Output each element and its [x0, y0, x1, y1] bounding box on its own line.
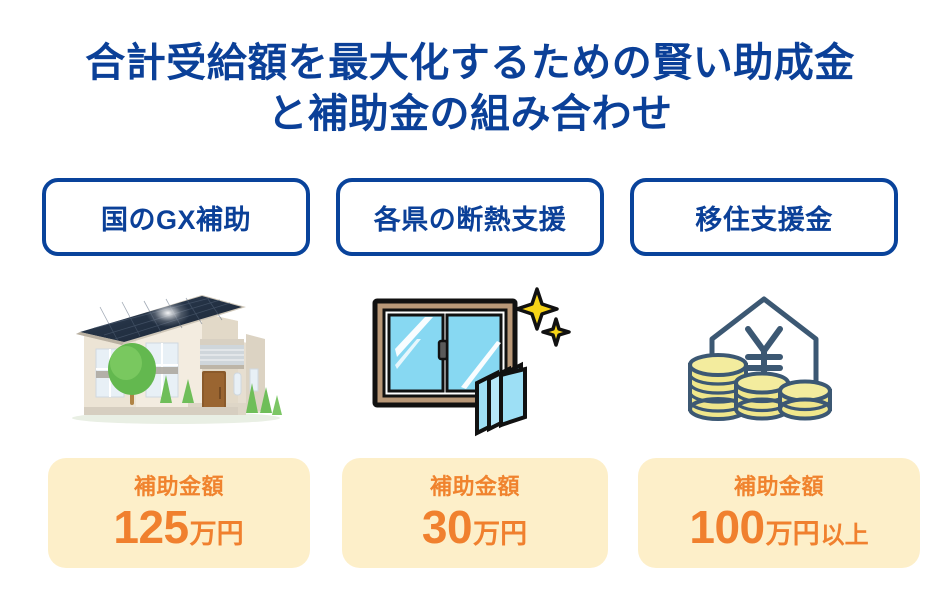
badge-label: 各県の断熱支援	[374, 198, 567, 237]
amount-card-label: 補助金額	[134, 476, 224, 498]
amount-suffix: 以上	[821, 524, 869, 548]
amount-card-row: 補助金額 125 万円 補助金額 30 万円 補助金額 100 万円 以上	[0, 458, 940, 570]
insulated-window-icon	[365, 277, 575, 437]
illustration-cell-3	[630, 272, 898, 442]
badge-national-gx[interactable]: 国のGX補助	[42, 178, 310, 256]
coin-stack-right	[780, 382, 830, 419]
amount-unit: 万円	[473, 521, 527, 548]
amount-unit: 万円	[190, 521, 244, 548]
amount-card-label: 補助金額	[734, 476, 824, 498]
illustration-cell-2	[336, 272, 604, 442]
page-title-line-2: と補助金の組み合わせ	[0, 89, 940, 140]
amount-card-value: 30 万円	[422, 504, 528, 550]
solar-house-icon	[60, 277, 292, 437]
amount-number: 100	[689, 504, 764, 550]
page-title-line-1: 合計受給額を最大化するための賢い助成金	[0, 38, 940, 89]
badge-label: 移住支援金	[695, 198, 833, 237]
amount-card-national-gx: 補助金額 125 万円	[48, 458, 310, 568]
amount-number: 125	[113, 504, 188, 550]
sparkle-small-icon	[543, 319, 569, 345]
amount-card-value: 100 万円 以上	[689, 504, 868, 550]
badge-label: 国のGX補助	[101, 198, 251, 237]
amount-card-prefectural-insulation: 補助金額 30 万円	[342, 458, 608, 568]
amount-card-relocation-support: 補助金額 100 万円 以上	[638, 458, 920, 568]
amount-card-value: 125 万円	[113, 504, 244, 550]
amount-card-label: 補助金額	[430, 476, 520, 498]
badge-prefectural-insulation[interactable]: 各県の断熱支援	[336, 178, 604, 256]
sparkle-large-icon	[517, 289, 557, 329]
illustration-cell-1	[42, 272, 310, 442]
illustration-row	[0, 272, 940, 442]
page-title: 合計受給額を最大化するための賢い助成金 と補助金の組み合わせ	[0, 38, 940, 140]
amount-unit: 万円	[766, 521, 820, 548]
badge-relocation-support[interactable]: 移住支援金	[630, 178, 898, 256]
infographic-page: 合計受給額を最大化するための賢い助成金 と補助金の組み合わせ 国のGX補助 各県…	[0, 0, 940, 610]
subsidy-badge-row: 国のGX補助 各県の断熱支援 移住支援金	[0, 178, 940, 260]
house-with-coins-icon	[674, 277, 854, 437]
amount-number: 30	[422, 504, 472, 550]
